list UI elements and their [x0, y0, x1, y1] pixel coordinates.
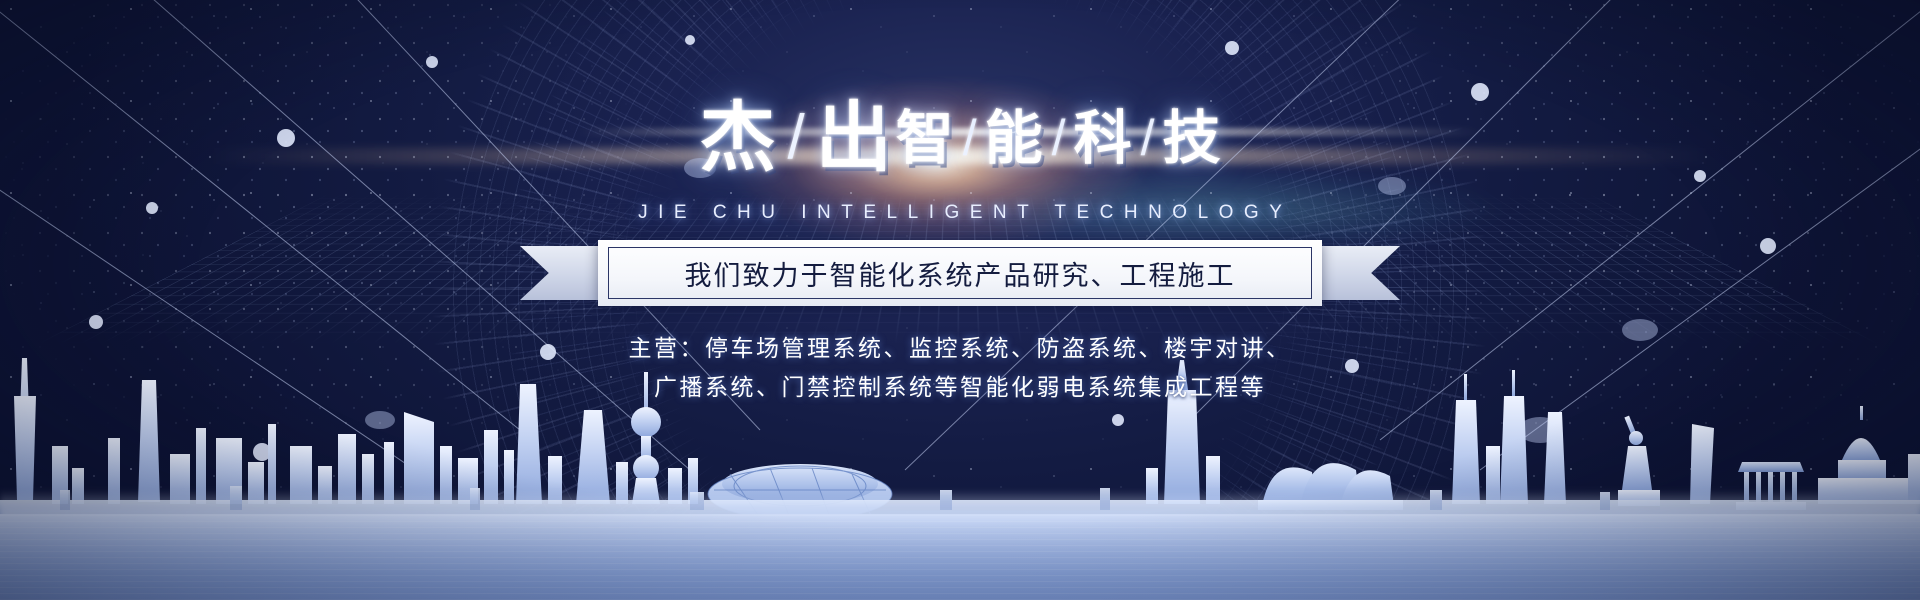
description-line-1: 主营：停车场管理系统、监控系统、防盗系统、楼宇对讲、 [0, 330, 1920, 369]
business-description: 主营：停车场管理系统、监控系统、防盗系统、楼宇对讲、 广播系统、门禁控制系统等智… [0, 330, 1920, 408]
ribbon-tagline-text: 我们致力于智能化系统产品研究、工程施工 [685, 254, 1236, 293]
english-subtitle: JIE CHU INTELLIGENT TECHNOLOGY [0, 202, 1920, 224]
title-char-chu: 出 [814, 96, 895, 180]
brand-title: 杰 / 出 智 / 能 / 科 / 技 [0, 96, 1920, 180]
hero-banner: 杰 / 出 智 / 能 / 科 / 技 JIE CHU INTELLIGENT … [0, 0, 1920, 600]
title-char-ke: 科 [1073, 96, 1134, 180]
title-char-zhi: 智 [895, 96, 956, 180]
description-line-2: 广播系统、门禁控制系统等智能化弱电系统集成工程等 [0, 369, 1920, 408]
title-char-neng: 能 [984, 96, 1045, 180]
title-slash-2: / [956, 96, 984, 180]
banner-content: 杰 / 出 智 / 能 / 科 / 技 JIE CHU INTELLIGENT … [0, 0, 1920, 600]
title-slash-1: / [778, 96, 813, 180]
ribbon-plate: 我们致力于智能化系统产品研究、工程施工 [598, 240, 1322, 306]
title-slash-4: / [1134, 96, 1162, 180]
title-char-ji: 技 [1161, 96, 1222, 180]
title-slash-3: / [1045, 96, 1073, 180]
title-char-jie: 杰 [697, 96, 778, 180]
tagline-ribbon: 我们致力于智能化系统产品研究、工程施工 [520, 240, 1400, 306]
